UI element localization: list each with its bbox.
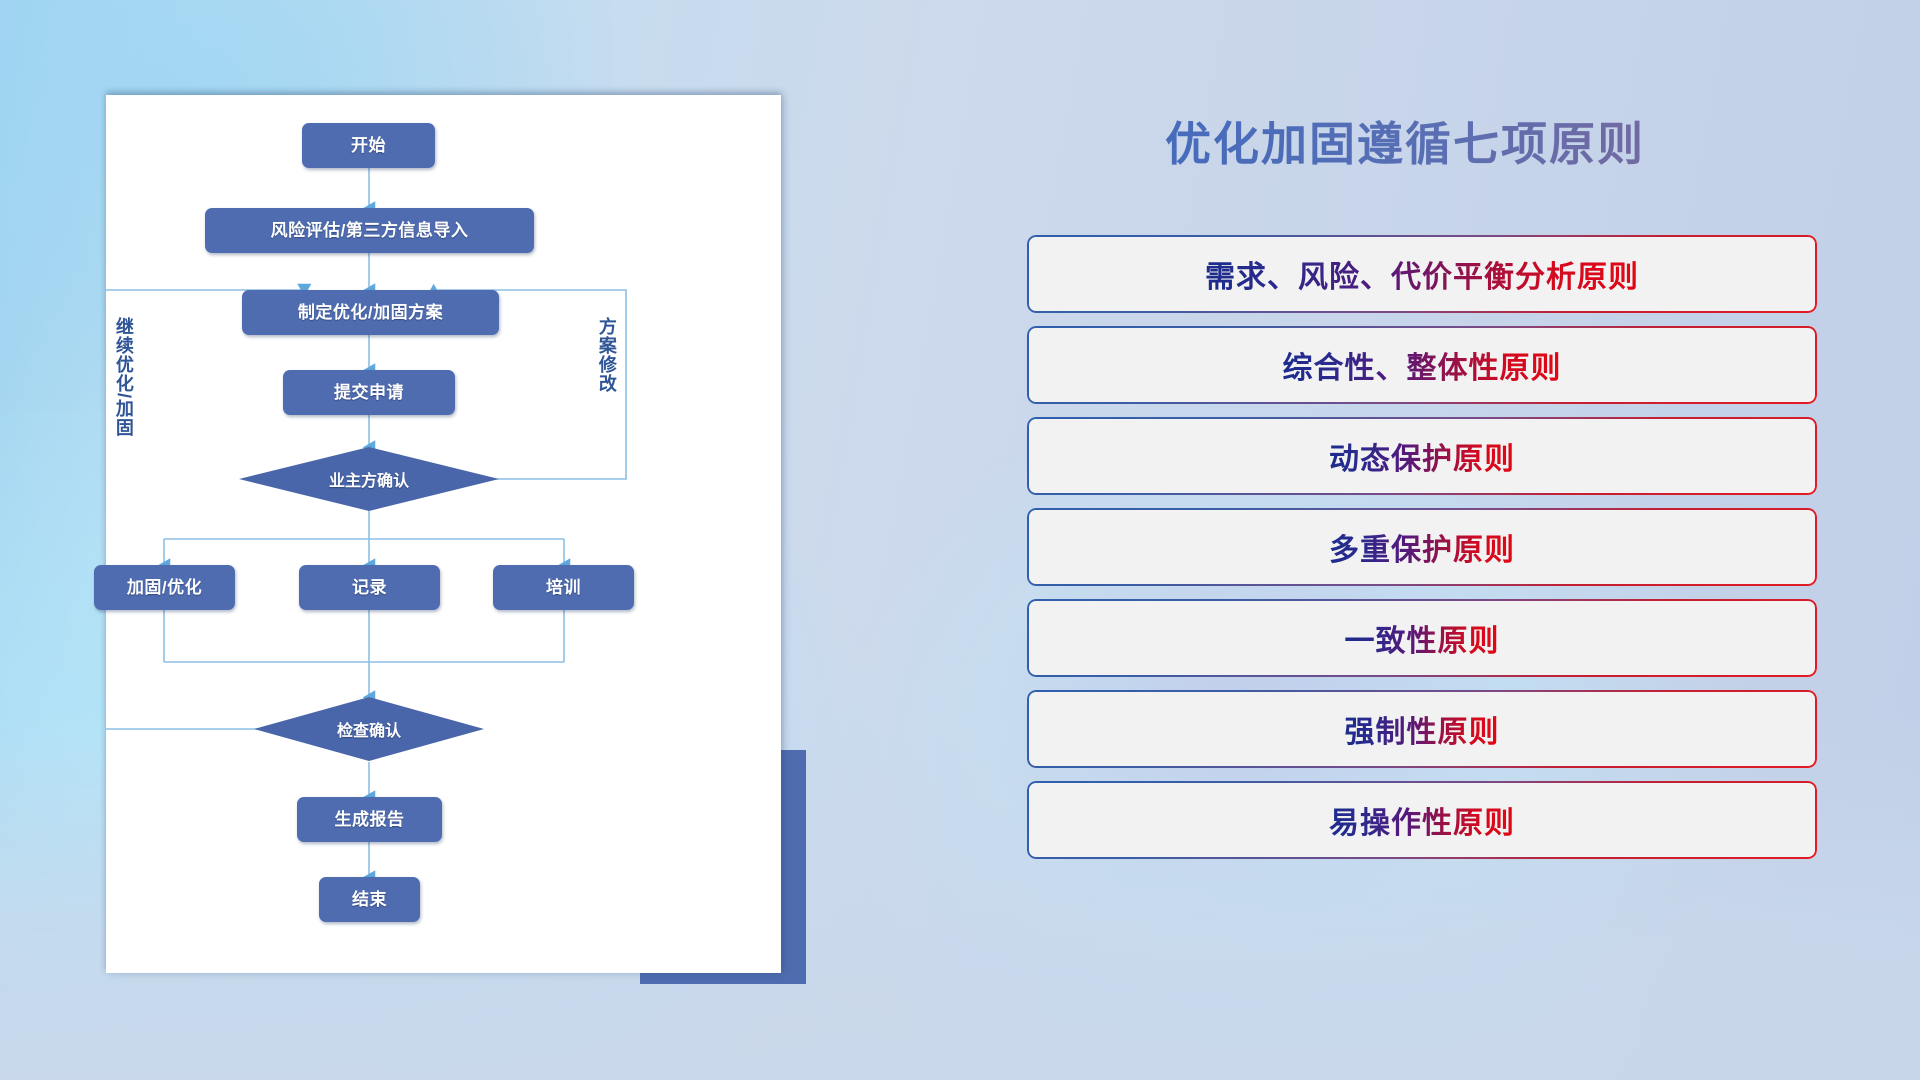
principle-item[interactable]: 易操作性原则 (1027, 781, 1817, 859)
flow-node-start[interactable]: 开始 (302, 123, 435, 168)
principle-item[interactable]: 一致性原则 (1027, 599, 1817, 677)
principle-label: 易操作性原则 (1329, 798, 1515, 842)
edge-label-continue-optimize: 继续优化/加固 (114, 317, 133, 437)
flow-node-record[interactable]: 记录 (299, 565, 440, 610)
flow-node-training[interactable]: 培训 (493, 565, 634, 610)
flow-node-label: 提交申请 (334, 384, 404, 401)
flow-node-label: 生成报告 (335, 811, 405, 828)
principle-label: 综合性、整体性原则 (1283, 343, 1562, 387)
edge-label-plan-revision: 方案修改 (597, 317, 616, 393)
flowchart-card: 开始 风险评估/第三方信息导入 制定优化/加固方案 提交申请 业主方确认 加固/… (106, 95, 781, 973)
flow-node-generate-report[interactable]: 生成报告 (297, 797, 442, 842)
principle-label: 动态保护原则 (1329, 434, 1515, 478)
page-title: 优化加固遵循七项原则 (1000, 108, 1810, 174)
flow-node-label: 检查确认 (254, 697, 484, 761)
flow-node-reinforce-optimize[interactable]: 加固/优化 (94, 565, 235, 610)
flow-node-label: 加固/优化 (127, 579, 202, 596)
flow-node-label: 培训 (546, 579, 581, 596)
principle-label: 多重保护原则 (1329, 525, 1515, 569)
principle-item[interactable]: 需求、风险、代价平衡分析原则 (1027, 235, 1817, 313)
flow-node-check-confirm[interactable]: 检查确认 (254, 697, 484, 761)
flow-node-label: 开始 (351, 137, 386, 154)
flow-node-plan[interactable]: 制定优化/加固方案 (242, 290, 499, 335)
principle-label: 需求、风险、代价平衡分析原则 (1205, 252, 1639, 296)
flow-node-label: 记录 (352, 579, 387, 596)
flow-node-label: 结束 (352, 891, 387, 908)
principle-label: 一致性原则 (1345, 616, 1500, 660)
principle-item[interactable]: 强制性原则 (1027, 690, 1817, 768)
flow-node-label: 制定优化/加固方案 (298, 304, 443, 321)
principle-item[interactable]: 多重保护原则 (1027, 508, 1817, 586)
slide-canvas: 开始 风险评估/第三方信息导入 制定优化/加固方案 提交申请 业主方确认 加固/… (0, 0, 1920, 1080)
flow-node-submit-application[interactable]: 提交申请 (283, 370, 455, 415)
principle-label: 强制性原则 (1345, 707, 1500, 751)
flow-node-label: 风险评估/第三方信息导入 (271, 222, 469, 239)
flow-node-label: 业主方确认 (239, 447, 499, 511)
flow-node-end[interactable]: 结束 (319, 877, 420, 922)
principle-item[interactable]: 动态保护原则 (1027, 417, 1817, 495)
flow-node-risk-assessment[interactable]: 风险评估/第三方信息导入 (205, 208, 534, 253)
principle-item[interactable]: 综合性、整体性原则 (1027, 326, 1817, 404)
flow-node-owner-confirm[interactable]: 业主方确认 (239, 447, 499, 511)
principles-list: 需求、风险、代价平衡分析原则 综合性、整体性原则 动态保护原则 多重保护原则 一… (1027, 235, 1817, 872)
